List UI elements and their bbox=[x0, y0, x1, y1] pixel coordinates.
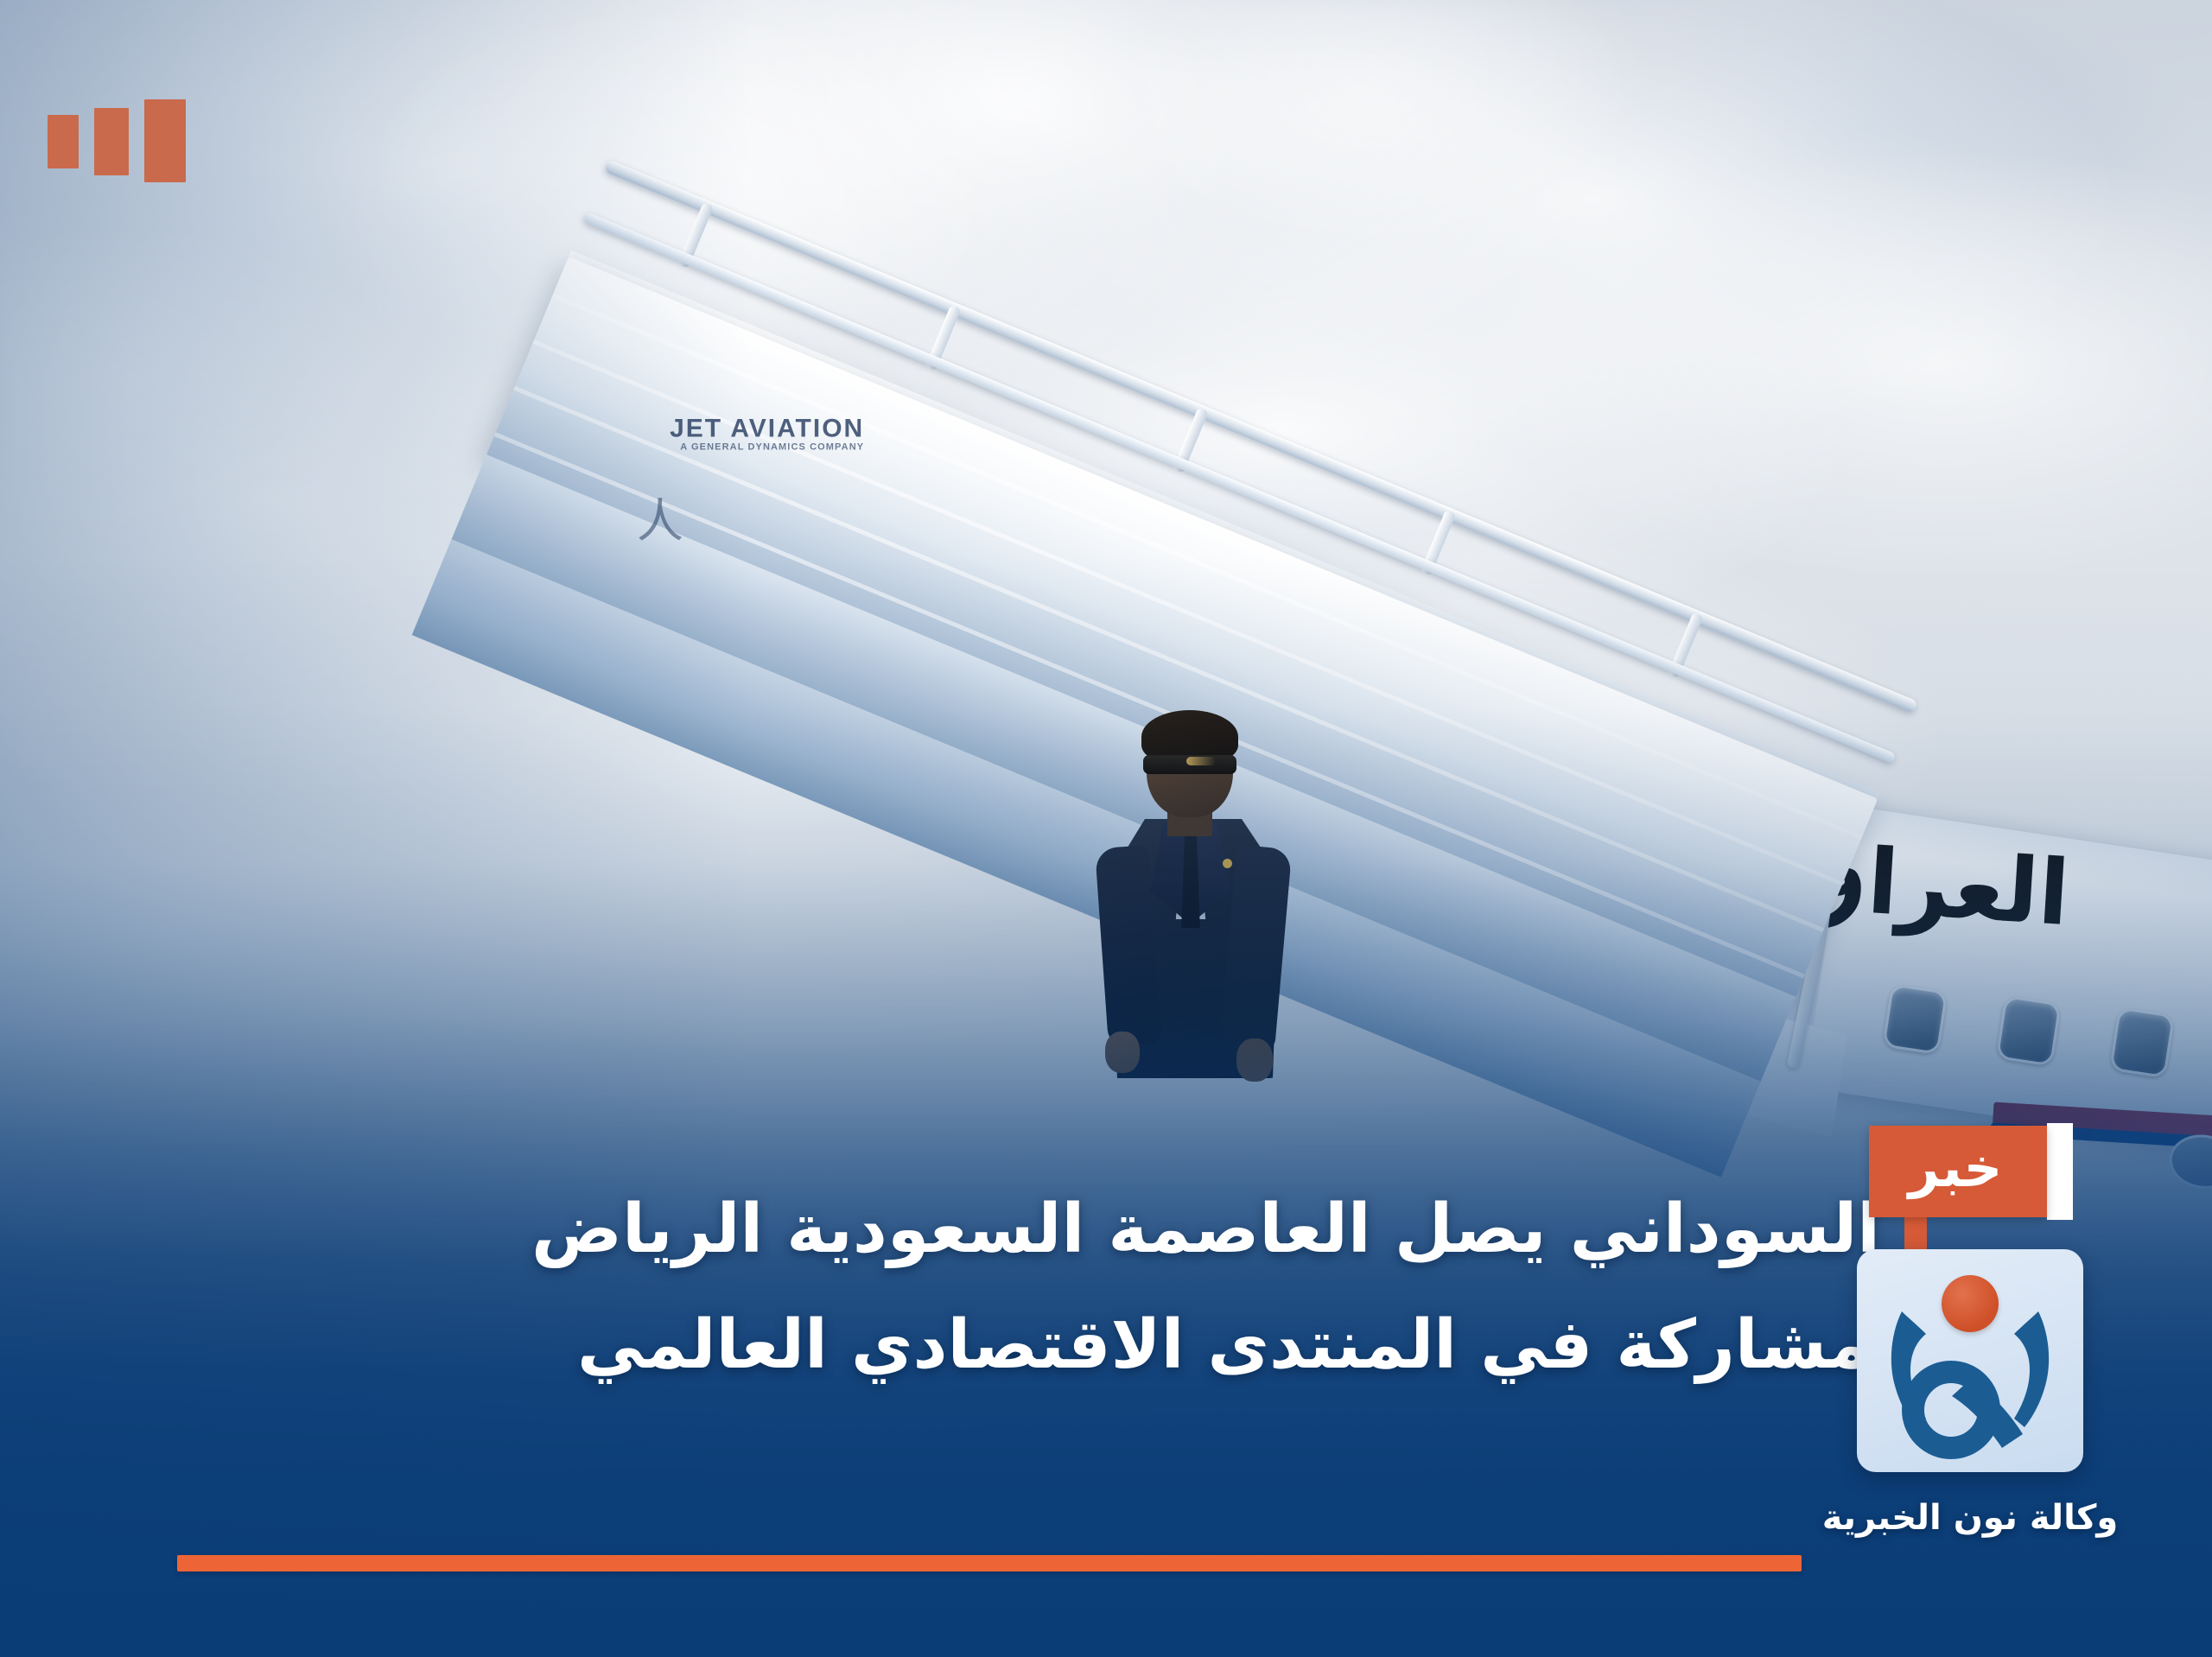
brand-column: خبر وكالة نون الخبرية bbox=[1789, 1123, 2152, 1538]
headline-divider bbox=[177, 1555, 1802, 1571]
bar-1 bbox=[144, 99, 186, 182]
stairs-symbol-glyph: 人 bbox=[637, 483, 683, 551]
headline-line2-row: للمشاركة في المنتدى الاقتصادي العالمي bbox=[406, 1299, 1927, 1393]
agency-name: وكالة نون الخبرية bbox=[1822, 1498, 2119, 1538]
stairs-brand-logo: JET AVIATION A GENERAL DYNAMICS COMPANY bbox=[670, 416, 864, 453]
news-badge: خبر bbox=[1869, 1123, 2072, 1220]
bar-3 bbox=[48, 115, 79, 168]
logo-figure-icon bbox=[1857, 1249, 2083, 1472]
news-badge-label: خبر bbox=[1869, 1126, 2048, 1217]
news-badge-bar bbox=[2047, 1123, 2073, 1220]
agency-logo bbox=[1857, 1249, 2083, 1472]
headline-line-1: السوداني يصل العاصمة السعودية الرياض bbox=[531, 1184, 1880, 1277]
three-bars-mark-icon bbox=[48, 99, 186, 182]
headline-line1-row: السوداني يصل العاصمة السعودية الرياض bbox=[406, 1184, 1927, 1277]
headline-line-2: للمشاركة في المنتدى الاقتصادي العالمي bbox=[577, 1299, 1927, 1393]
bar-2 bbox=[94, 108, 129, 175]
news-card: العراق bbox=[0, 0, 2212, 1657]
stairs-brand-name: JET AVIATION bbox=[670, 416, 864, 443]
headline-block: السوداني يصل العاصمة السعودية الرياض للم… bbox=[406, 1184, 1927, 1392]
stairs-brand-tagline: A GENERAL DYNAMICS COMPANY bbox=[670, 442, 864, 453]
